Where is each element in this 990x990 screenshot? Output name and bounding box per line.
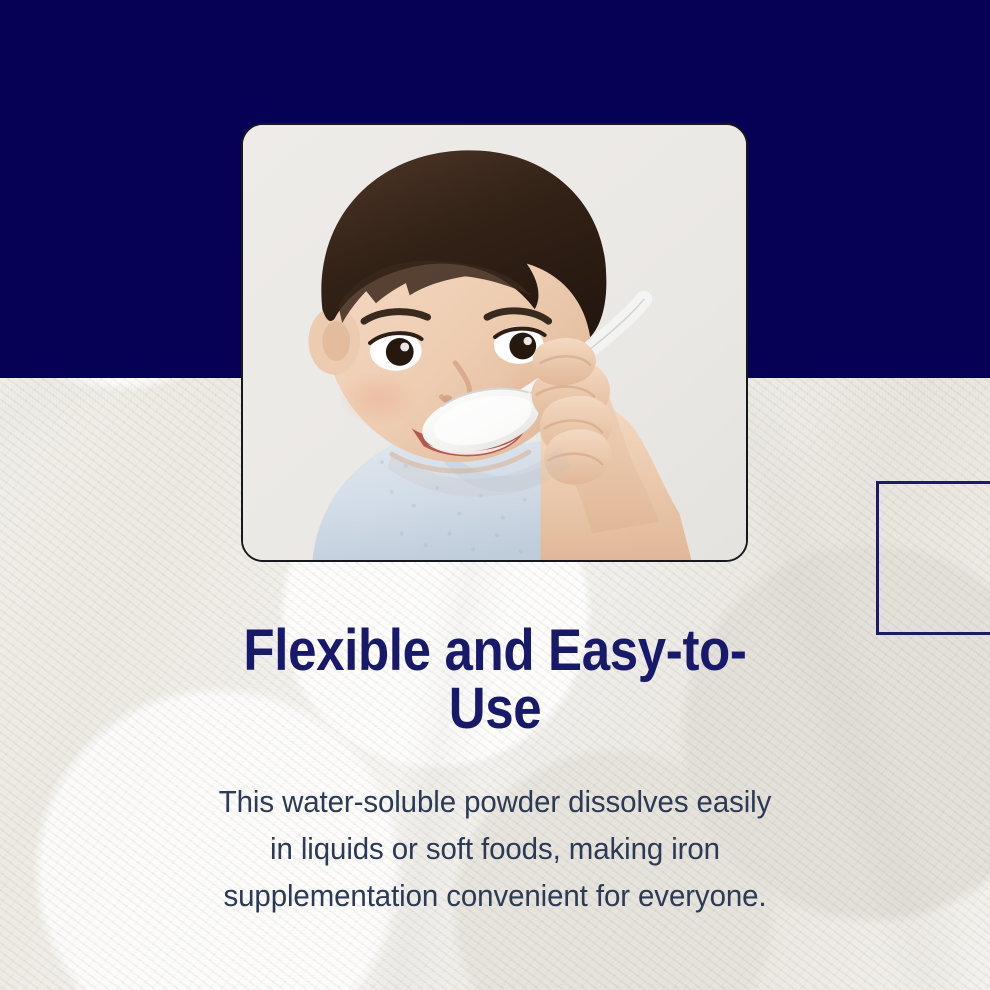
baby-with-spoon-photo [243, 125, 746, 560]
baby-illustration [243, 125, 746, 560]
accent-outline-rectangle [876, 481, 990, 635]
body-description: This water-soluble powder dissolves easi… [115, 778, 875, 919]
poster-canvas: Flexible and Easy-to- Use This water-sol… [0, 0, 990, 990]
page-title: Flexible and Easy-to- Use [143, 622, 847, 738]
photo-card [241, 123, 748, 562]
